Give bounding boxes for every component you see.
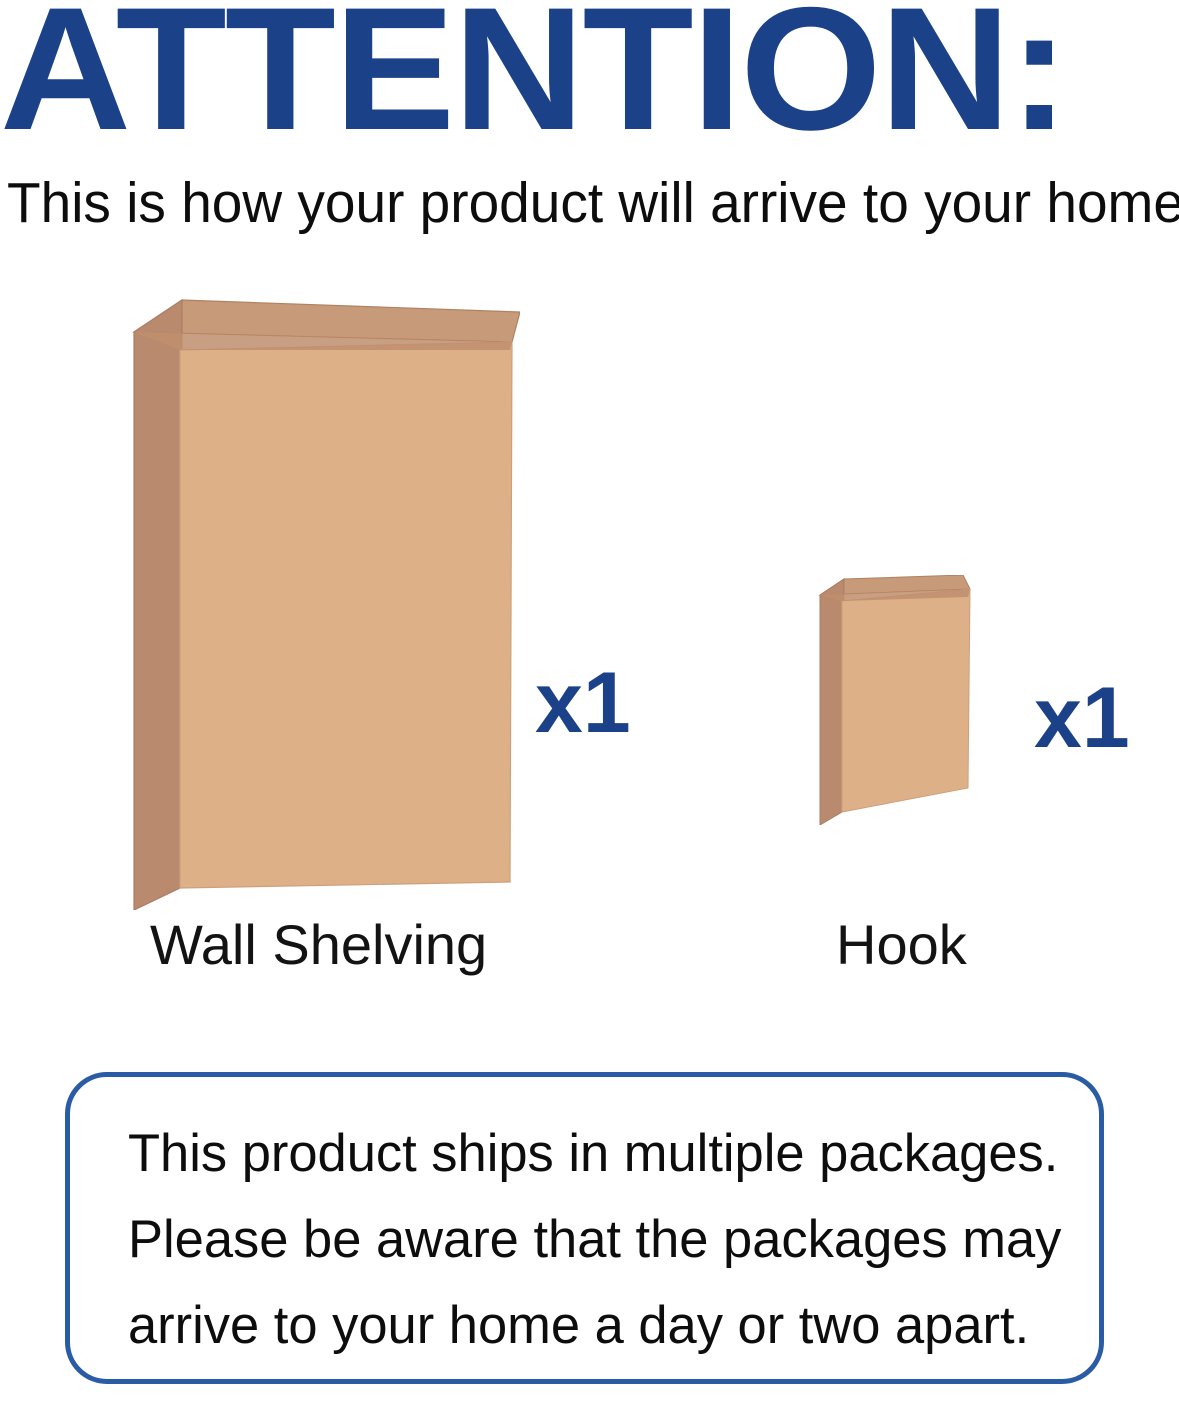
package-caption-hook: Hook: [836, 915, 967, 975]
quantity-label-wall-shelving: x1: [535, 660, 631, 746]
package-item-wall-shelving: [120, 290, 520, 910]
package-caption-wall-shelving: Wall Shelving: [150, 915, 487, 975]
shipping-notice-line-3: arrive to your home a day or two apart.: [128, 1283, 1049, 1369]
package-item-hook: [812, 575, 992, 825]
shipping-notice-callout: This product ships in multiple packages.…: [65, 1072, 1104, 1384]
page-subtitle: This is how your product will arrive to …: [7, 172, 1138, 234]
page-title: ATTENTION:: [0, 0, 1179, 157]
shipping-notice-line-2: Please be aware that the packages may: [128, 1197, 1049, 1283]
packages-illustration: x1 Wall Shelving x1 Hook: [0, 270, 1179, 1010]
shipping-notice-line-1: This product ships in multiple packages.: [128, 1111, 1049, 1197]
quantity-label-hook: x1: [1034, 675, 1130, 761]
shipping-notice-text: This product ships in multiple packages.…: [128, 1111, 1058, 1369]
cardboard-box-small-icon: [812, 575, 992, 825]
cardboard-box-large-icon: [120, 290, 520, 910]
